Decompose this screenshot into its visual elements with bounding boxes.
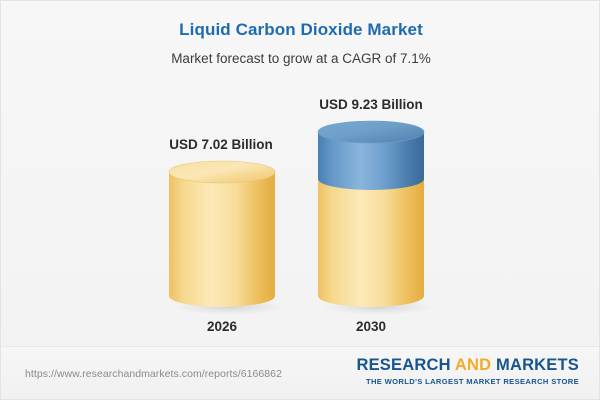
chart-plot-area: USD 7.02 Billion <box>1 1 600 349</box>
brand-name-and: AND <box>455 356 491 374</box>
brand-name-part2: MARKETS <box>491 356 579 374</box>
brand-logo: RESEARCH AND MARKETS THE WORLD'S LARGEST… <box>356 356 579 387</box>
bar-cylinder-2030 <box>310 114 432 316</box>
footer: https://www.researchandmarkets.com/repor… <box>1 346 600 399</box>
report-url[interactable]: https://www.researchandmarkets.com/repor… <box>25 368 282 380</box>
bar-category-label-2030: 2030 <box>271 319 471 334</box>
bar-body-2026 <box>169 172 275 307</box>
bar-value-label-2030: USD 9.23 Billion <box>271 97 471 112</box>
brand-name-part1: RESEARCH <box>356 356 454 374</box>
bar-body-base-2030 <box>318 179 424 307</box>
market-infographic: Liquid Carbon Dioxide Market Market fore… <box>0 0 600 400</box>
brand-name: RESEARCH AND MARKETS <box>356 356 579 375</box>
bar-value-label-2026: USD 7.02 Billion <box>121 137 321 152</box>
brand-tagline: THE WORLD'S LARGEST MARKET RESEARCH STOR… <box>356 377 579 387</box>
bar-top-ellipse-2030 <box>318 121 424 143</box>
bar-top-ellipse-2026 <box>169 161 275 183</box>
bar-cylinder-2026 <box>161 154 283 316</box>
